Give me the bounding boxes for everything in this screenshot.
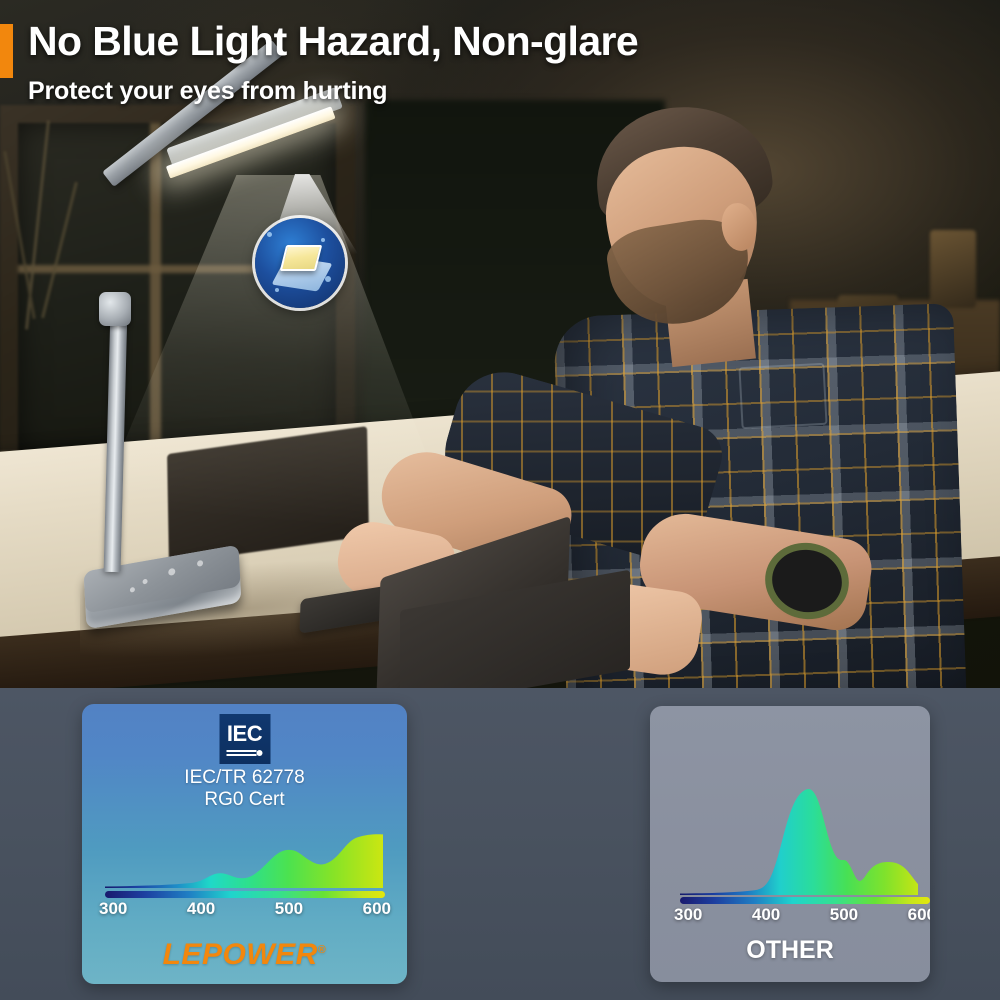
lepower-brand-logo: LEPOWER® (82, 938, 407, 972)
lepower-wavelength-axis-bar (105, 891, 385, 898)
cert-rating: RG0 Cert (82, 789, 407, 811)
led-chip-magnifier-icon (255, 218, 345, 308)
tick-500: 500 (830, 905, 858, 925)
page-title: No Blue Light Hazard, Non-glare (28, 18, 638, 65)
title-block: No Blue Light Hazard, Non-glare Protect … (0, 0, 1000, 115)
accent-bar (0, 24, 13, 78)
page-root: No Blue Light Hazard, Non-glare Protect … (0, 0, 1000, 1000)
shelf-object-jar (930, 230, 976, 308)
tick-400: 400 (752, 905, 780, 925)
page-subtitle: Protect your eyes from hurting (28, 77, 387, 106)
iec-logo-rule (227, 749, 263, 757)
comparison-panel: IEC IEC/TR 62778 RG0 Cert (0, 688, 1000, 1000)
registered-mark: ® (318, 944, 327, 956)
led-chip (280, 245, 322, 271)
lepower-axis-ticks: 300 400 500 600 (99, 899, 391, 919)
tick-300: 300 (99, 899, 127, 919)
iec-logo-icon: IEC (219, 714, 270, 764)
tick-600: 600 (363, 899, 391, 919)
window-mullion-vertical (150, 123, 161, 453)
other-spectrum-chart (680, 778, 930, 896)
other-wavelength-axis-bar (680, 897, 930, 904)
lepower-spectrum-chart (105, 819, 385, 889)
cert-standard-number: IEC/TR 62778 (82, 767, 407, 789)
lepower-brand-text: LEPOWER (163, 938, 318, 971)
lepower-spectrum-card[interactable]: IEC IEC/TR 62778 RG0 Cert (82, 704, 407, 984)
tick-500: 500 (275, 899, 303, 919)
hero-photo: No Blue Light Hazard, Non-glare Protect … (0, 0, 1000, 688)
tick-600: 600 (908, 905, 930, 925)
shirt-pocket (738, 363, 827, 429)
other-brand-label: OTHER (650, 936, 930, 965)
iec-logo-dot (257, 750, 263, 756)
tick-300: 300 (674, 905, 702, 925)
other-axis-ticks: 300 400 500 600 (674, 905, 930, 925)
other-spectrum-card[interactable]: 300 400 500 600 OTHER (650, 706, 930, 982)
tick-400: 400 (187, 899, 215, 919)
iec-logo-text: IEC (227, 723, 262, 745)
lamp-joint (99, 292, 131, 326)
